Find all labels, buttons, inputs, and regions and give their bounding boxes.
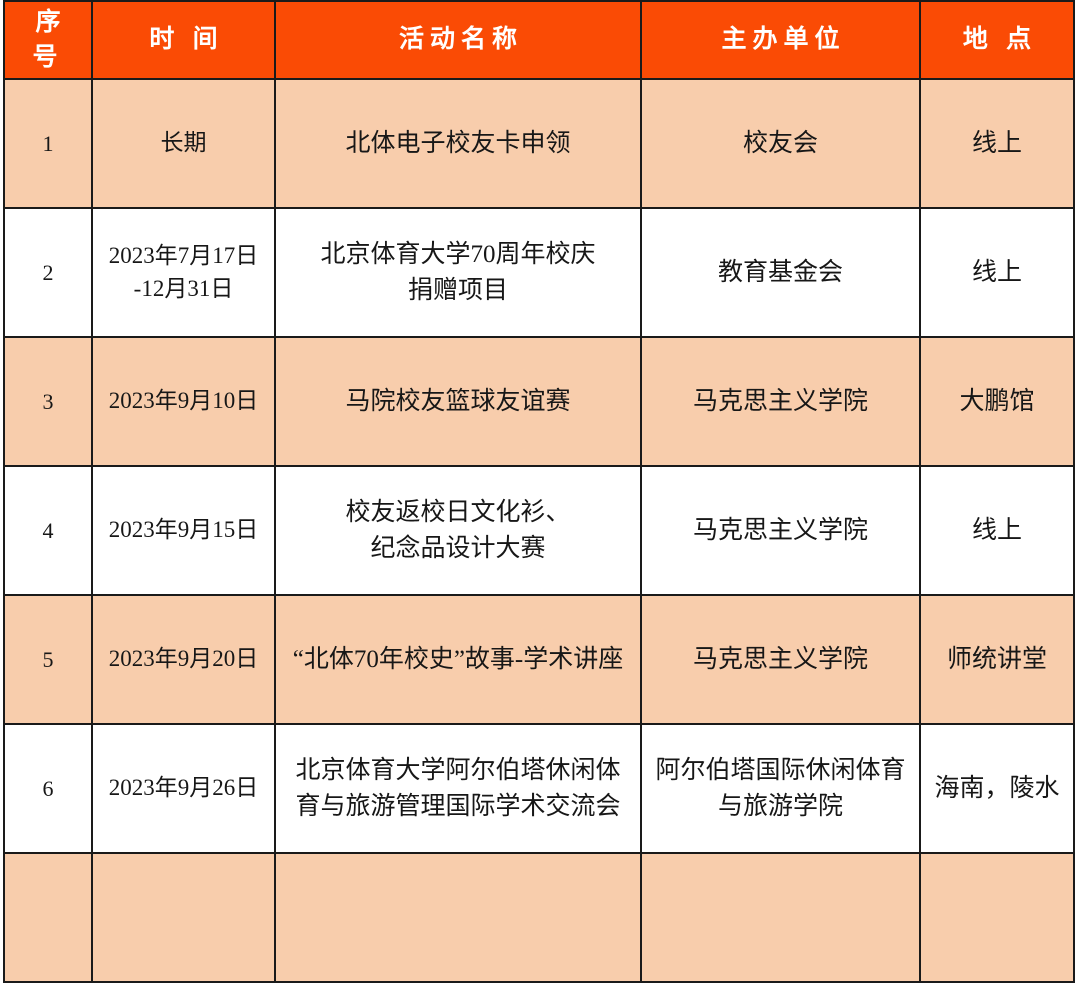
cell-text-line: 线上 [925,513,1069,549]
cell-text-line: “北体70年校史”故事-学术讲座 [280,642,636,678]
cell-truncated [4,853,92,982]
cell-text-line: 长期 [97,127,270,160]
cell-text-line: 北京体育大学阿尔伯塔休闲体 [280,753,636,789]
cell-time: 2023年9月26日 [92,724,275,853]
column-header-host: 主办单位 [641,1,920,79]
cell-activity-name: 北京体育大学70周年校庆捐赠项目 [275,208,641,337]
cell-place: 线上 [920,79,1074,208]
cell-activity-name: 校友返校日文化衫、纪念品设计大赛 [275,466,641,595]
table-row: 42023年9月15日校友返校日文化衫、纪念品设计大赛马克思主义学院线上 [4,466,1074,595]
cell-text-line: 校友返校日文化衫、 [280,495,636,531]
table-header: 序 号 时 间 活动名称 主办单位 地 点 [4,1,1074,79]
cell-text-line: 2023年9月26日 [97,772,270,805]
column-header-place: 地 点 [920,1,1074,79]
cell-time: 长期 [92,79,275,208]
cell-text-line: 2 [9,257,87,288]
cell-text-line: 海南，陵水 [925,771,1069,807]
cell-text-line: 2023年9月20日 [97,643,270,676]
cell-text-line: 捐赠项目 [280,273,636,309]
table-row: 32023年9月10日马院校友篮球友谊赛马克思主义学院大鹏馆 [4,337,1074,466]
activity-schedule-table: 序 号 时 间 活动名称 主办单位 地 点 1长期北体电子校友卡申领校友会线上2… [3,0,1075,983]
cell-text-line: 与旅游学院 [646,789,915,825]
cell-place: 海南，陵水 [920,724,1074,853]
cell-place: 线上 [920,208,1074,337]
cell-index: 1 [4,79,92,208]
cell-text-line: 2023年9月10日 [97,385,270,418]
cell-text-line: 师统讲堂 [925,642,1069,678]
cell-host-unit: 教育基金会 [641,208,920,337]
cell-host-unit: 马克思主义学院 [641,466,920,595]
cell-host-unit: 马克思主义学院 [641,595,920,724]
cell-text-line: 马克思主义学院 [646,384,915,420]
cell-truncated [641,853,920,982]
cell-text-line: 6 [9,773,87,804]
cell-activity-name: “北体70年校史”故事-学术讲座 [275,595,641,724]
table-body: 1长期北体电子校友卡申领校友会线上22023年7月17日-12月31日北京体育大… [4,79,1074,982]
cell-index: 3 [4,337,92,466]
cell-index: 2 [4,208,92,337]
cell-text-line: 校友会 [646,126,915,162]
table-row: 1长期北体电子校友卡申领校友会线上 [4,79,1074,208]
header-row: 序 号 时 间 活动名称 主办单位 地 点 [4,1,1074,79]
cell-index: 6 [4,724,92,853]
table-row: 52023年9月20日“北体70年校史”故事-学术讲座马克思主义学院师统讲堂 [4,595,1074,724]
cell-text-line: -12月31日 [97,273,270,306]
cell-text-line: 北京体育大学70周年校庆 [280,237,636,273]
cell-host-unit: 校友会 [641,79,920,208]
column-header-index: 序 号 [4,1,92,79]
cell-truncated [92,853,275,982]
cell-place: 线上 [920,466,1074,595]
cell-text-line: 4 [9,515,87,546]
cell-text-line: 5 [9,644,87,675]
table-row: 62023年9月26日北京体育大学阿尔伯塔休闲体育与旅游管理国际学术交流会阿尔伯… [4,724,1074,853]
column-header-time: 时 间 [92,1,275,79]
cell-truncated [275,853,641,982]
cell-activity-name: 北体电子校友卡申领 [275,79,641,208]
cell-place: 师统讲堂 [920,595,1074,724]
cell-text-line: 线上 [925,255,1069,291]
cell-text-line: 2023年9月15日 [97,514,270,547]
cell-time: 2023年7月17日-12月31日 [92,208,275,337]
cell-text-line: 马克思主义学院 [646,513,915,549]
cell-time: 2023年9月15日 [92,466,275,595]
cell-activity-name: 马院校友篮球友谊赛 [275,337,641,466]
cell-text-line: 2023年7月17日 [97,240,270,273]
table-row-truncated [4,853,1074,982]
cell-text-line: 纪念品设计大赛 [280,531,636,567]
cell-text-line: 线上 [925,126,1069,162]
cell-place: 大鹏馆 [920,337,1074,466]
cell-activity-name: 北京体育大学阿尔伯塔休闲体育与旅游管理国际学术交流会 [275,724,641,853]
cell-text-line: 马院校友篮球友谊赛 [280,384,636,420]
cell-index: 4 [4,466,92,595]
cell-truncated [920,853,1074,982]
cell-text-line: 北体电子校友卡申领 [280,126,636,162]
cell-text-line: 大鹏馆 [925,384,1069,420]
cell-text-line: 育与旅游管理国际学术交流会 [280,789,636,825]
cell-time: 2023年9月10日 [92,337,275,466]
cell-index: 5 [4,595,92,724]
cell-text-line: 马克思主义学院 [646,642,915,678]
cell-text-line: 教育基金会 [646,255,915,291]
cell-text-line: 阿尔伯塔国际休闲体育 [646,753,915,789]
cell-text-line: 3 [9,386,87,417]
column-header-name: 活动名称 [275,1,641,79]
cell-host-unit: 阿尔伯塔国际休闲体育与旅游学院 [641,724,920,853]
cell-time: 2023年9月20日 [92,595,275,724]
cell-text-line: 1 [9,128,87,159]
cell-host-unit: 马克思主义学院 [641,337,920,466]
table-row: 22023年7月17日-12月31日北京体育大学70周年校庆捐赠项目教育基金会线… [4,208,1074,337]
